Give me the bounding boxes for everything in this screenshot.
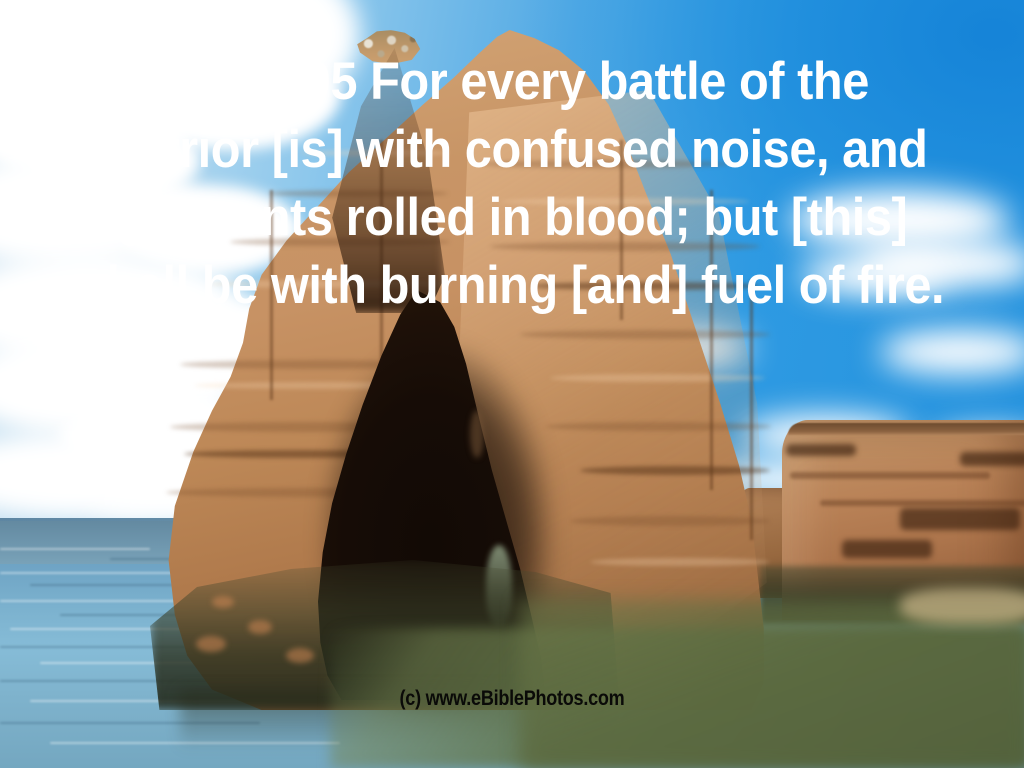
shallow-green-water <box>520 600 1024 768</box>
rock-strata-band <box>790 472 990 479</box>
copyright-watermark: (c) www.eBiblePhotos.com <box>72 687 953 711</box>
rock-colour-patch <box>196 636 226 652</box>
verse-line-3: garments rolled in blood; but [this] <box>41 184 983 252</box>
water-ripple <box>0 548 150 550</box>
rock-colour-patch <box>286 648 314 663</box>
rock-colour-patch <box>248 620 272 634</box>
rock-shadow <box>842 540 932 558</box>
rock-strata-band <box>550 374 765 382</box>
rock-strata-band <box>570 516 770 526</box>
rock-shadow <box>900 508 1020 530</box>
cave-interior-highlight <box>470 410 484 458</box>
rock-strata-band <box>546 422 771 431</box>
rock-shadow <box>960 452 1024 466</box>
sandbar <box>900 588 1024 624</box>
rock-colour-patch <box>212 596 234 608</box>
photo-canvas: Isa 09:05 For every battle of the warrio… <box>0 0 1024 768</box>
rock-strata-band <box>820 500 1024 506</box>
verse-overlay-text: Isa 09:05 For every battle of the warrio… <box>41 48 983 320</box>
verse-line-1: Isa 09:05 For every battle of the <box>41 48 983 116</box>
right-cliff-rim <box>788 423 1024 435</box>
rock-shadow <box>786 444 856 456</box>
verse-line-4: shall be with burning [and] fuel of fire… <box>41 252 983 320</box>
rock-strata-band <box>580 466 770 475</box>
rock-strata-band <box>590 558 770 566</box>
verse-line-2: warrior [is] with confused noise, and <box>41 116 983 184</box>
